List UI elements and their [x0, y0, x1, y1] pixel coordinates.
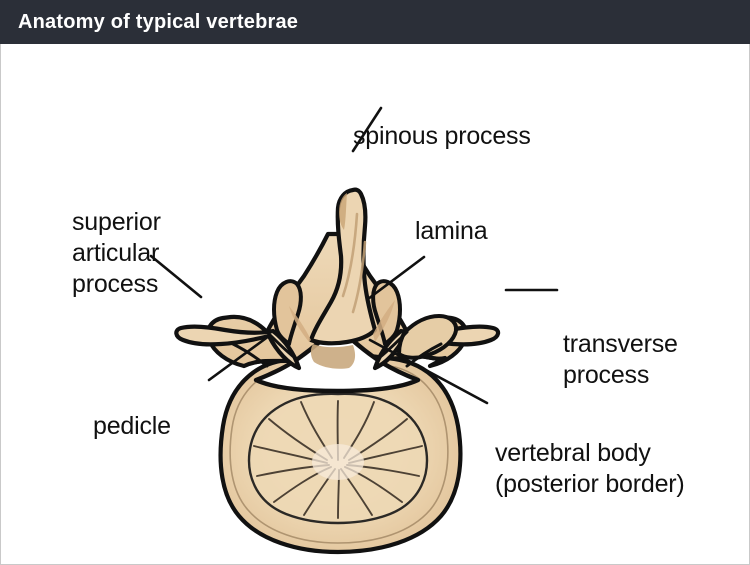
vertebra-anatomy-figure-page: Anatomy of typical vertebrae — [0, 0, 750, 565]
label-vertebral-body: vertebral body (posterior border) — [495, 438, 685, 500]
label-spinous-process: spinous process — [353, 121, 531, 152]
label-lamina: lamina — [415, 216, 487, 247]
label-transverse-process: transverse process — [563, 329, 678, 391]
title-bar: Anatomy of typical vertebrae — [0, 0, 750, 44]
label-superior-articular-process: superior articular process — [72, 207, 161, 300]
page-title: Anatomy of typical vertebrae — [18, 11, 298, 34]
label-pedicle: pedicle — [93, 411, 171, 442]
figure-content-area: spinous process lamina superior articula… — [0, 44, 750, 565]
vertebral-body-center-highlight — [312, 444, 364, 480]
